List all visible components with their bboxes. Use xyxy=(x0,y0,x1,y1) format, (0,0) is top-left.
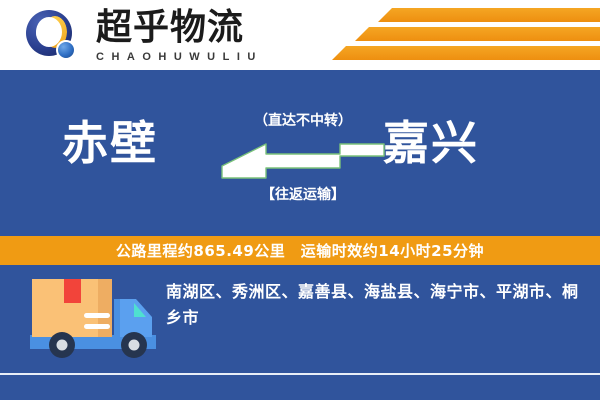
banner-header: 超乎物流 CHAOHUWULIU xyxy=(0,0,600,70)
origin-city: 赤壁 xyxy=(62,115,158,171)
route-note-bottom: 【往返运输】 xyxy=(228,184,378,204)
distance-duration-bar: 公路里程约865.49公里 运输时效约14小时25分钟 xyxy=(0,236,600,265)
speed-stripes-icon xyxy=(340,8,600,64)
delivery-truck-icon xyxy=(28,273,160,365)
brand-name-pinyin: CHAOHUWULIU xyxy=(96,50,336,64)
destination-city: 嘉兴 xyxy=(383,115,479,171)
coverage-districts-text: 南湖区、秀洲区、嘉善县、海盐县、海宁市、平湖市、桐乡市 xyxy=(166,279,586,331)
logo-accent-dot-shape xyxy=(56,40,76,60)
logistics-route-banner: 超乎物流 CHAOHUWULIU 赤壁 （直达不中转） 【往返运输】 嘉兴 公路… xyxy=(0,0,600,400)
route-arrow-block: （直达不中转） 【往返运输】 xyxy=(228,110,378,206)
brand-name-block: 超乎物流 CHAOHUWULIU xyxy=(96,8,336,64)
stripe-2 xyxy=(355,27,600,41)
circle-crescent-logo-icon xyxy=(26,10,78,62)
route-note-top: （直达不中转） xyxy=(228,110,378,130)
distance-duration-text: 公路里程约865.49公里 运输时效约14小时25分钟 xyxy=(116,240,484,261)
stripe-1 xyxy=(378,8,600,22)
brand-name-cn: 超乎物流 xyxy=(96,8,336,48)
coverage-panel: 南湖区、秀洲区、嘉善县、海盐县、海宁市、平湖市、桐乡市 xyxy=(0,265,600,373)
stripe-3 xyxy=(332,46,600,60)
double-arrow-icon xyxy=(214,134,392,180)
bottom-blue-band xyxy=(0,375,600,400)
route-panel: 赤壁 （直达不中转） 【往返运输】 嘉兴 xyxy=(0,70,600,236)
